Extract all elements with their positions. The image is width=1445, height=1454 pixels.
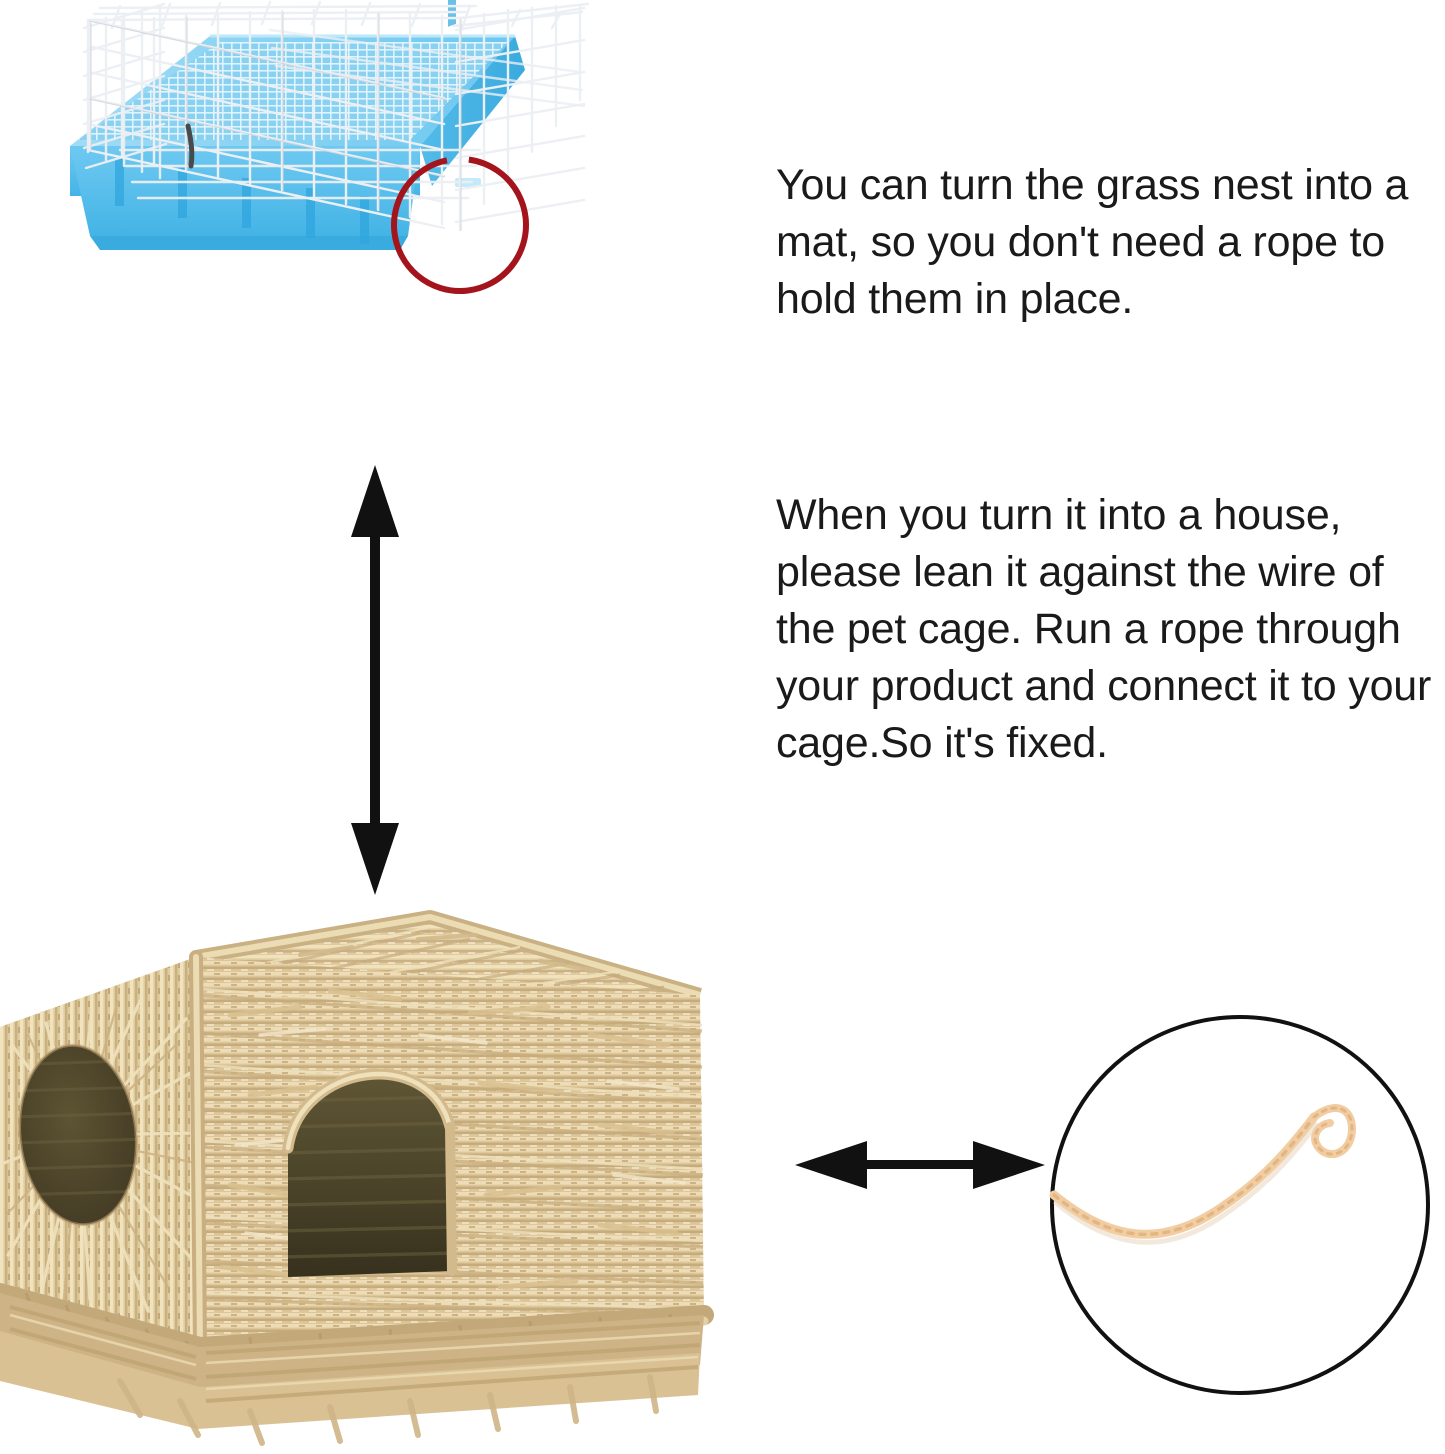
instruction-text-house: When you turn it into a house, please le… <box>776 487 1444 772</box>
grass-house-front-face <box>196 957 704 1347</box>
product-instruction-graphic: You can turn the grass nest into a mat, … <box>0 0 1445 1454</box>
instruction-text-mat: You can turn the grass nest into a mat, … <box>776 157 1436 328</box>
grass-house-corner-edge <box>196 957 200 1347</box>
rope-closeup-inset <box>1040 1005 1440 1405</box>
arrow-horizontal-house-to-rope <box>795 1120 1045 1210</box>
grass-nest-house-illustration <box>0 895 790 1454</box>
arrow-vertical-cage-to-house <box>330 465 420 895</box>
grass-house-left-face <box>0 957 200 1347</box>
pet-cage-illustration <box>60 0 680 420</box>
